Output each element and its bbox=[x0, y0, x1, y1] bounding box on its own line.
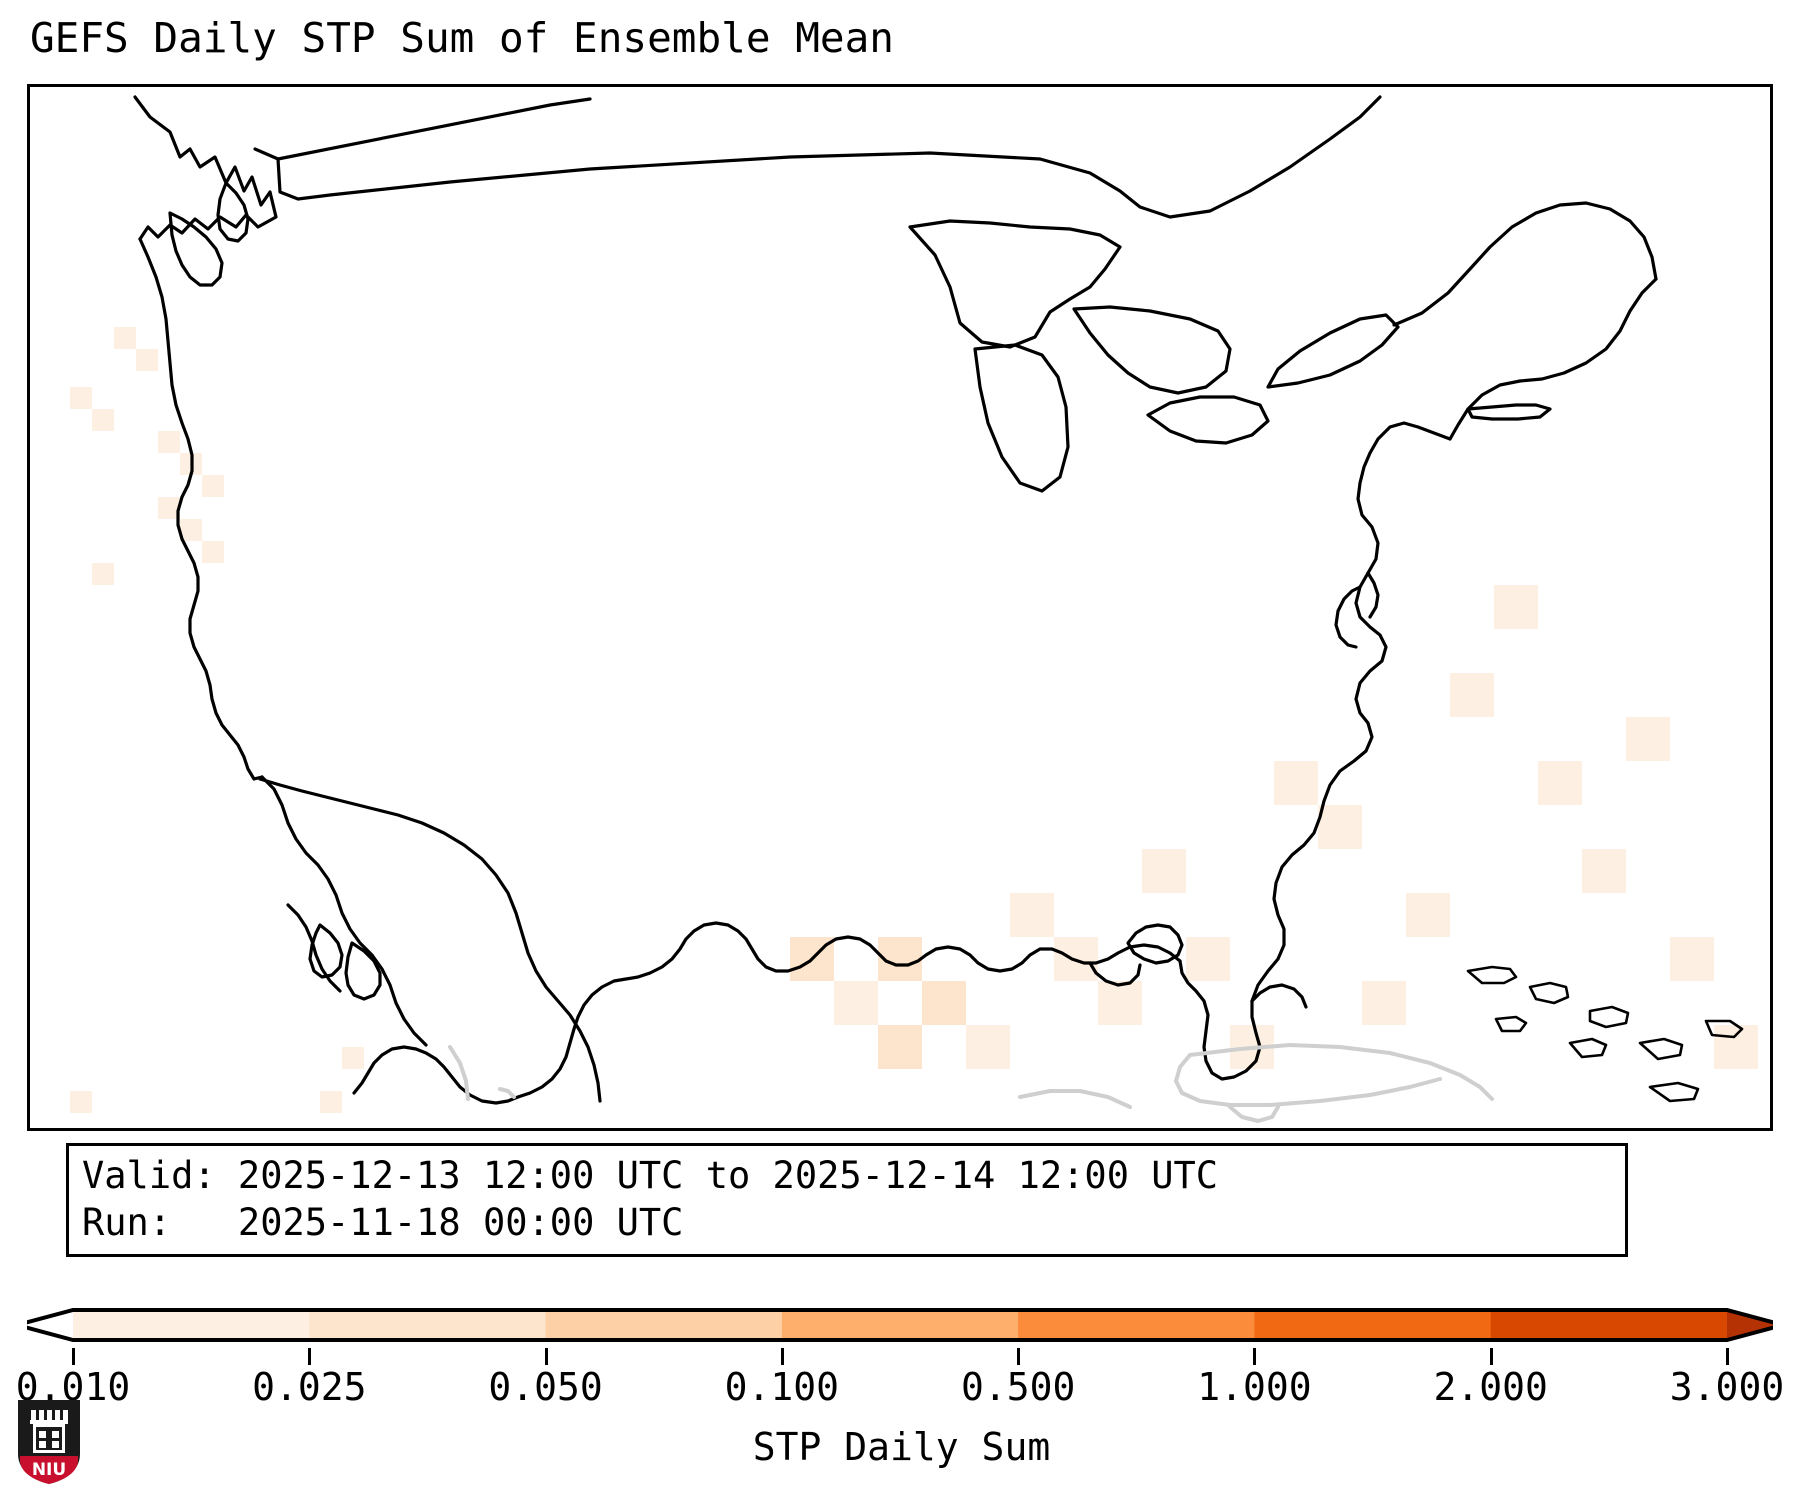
colorbar-tick-label: 1.000 bbox=[1197, 1368, 1311, 1406]
stp-cell bbox=[834, 981, 878, 1025]
stp-cell bbox=[1714, 1025, 1758, 1069]
stp-cell bbox=[1450, 673, 1494, 717]
stp-cell bbox=[136, 349, 158, 371]
colorbar-band bbox=[1254, 1310, 1491, 1340]
colorbar-tick-mark bbox=[1490, 1348, 1493, 1365]
stp-cell bbox=[320, 1091, 342, 1113]
colorbar-band bbox=[782, 1310, 1019, 1340]
stp-cell bbox=[342, 1047, 364, 1069]
colorbar-tick-label: 3.000 bbox=[1670, 1368, 1784, 1406]
stp-cell bbox=[180, 519, 202, 541]
stp-cell bbox=[1318, 805, 1362, 849]
stp-cell bbox=[92, 409, 114, 431]
colorbar-canvas bbox=[27, 1302, 1773, 1348]
colorbar-tick-label: 0.050 bbox=[488, 1368, 602, 1406]
stp-cell bbox=[1406, 893, 1450, 937]
colorbar-ticks: 0.0100.0250.0500.1000.5001.0002.0003.000 bbox=[0, 1348, 1803, 1418]
forecast-map-figure: GEFS Daily STP Sum of Ensemble Mean bbox=[0, 0, 1803, 1500]
niu-wordmark: NIU bbox=[32, 1460, 66, 1480]
colorbar-tick-label: 0.500 bbox=[961, 1368, 1075, 1406]
colorbar-bands bbox=[27, 1310, 1773, 1340]
stp-cell bbox=[878, 1025, 922, 1069]
colorbar-axis-label: STP Daily Sum bbox=[0, 1428, 1803, 1466]
colorbar-band bbox=[1018, 1310, 1255, 1340]
colorbar-tick-label: 0.025 bbox=[252, 1368, 366, 1406]
stp-cell bbox=[1494, 585, 1538, 629]
stp-cell bbox=[1010, 893, 1054, 937]
colorbar-band bbox=[309, 1310, 546, 1340]
colorbar-tick-mark bbox=[1017, 1348, 1020, 1365]
colorbar-band bbox=[1491, 1310, 1728, 1340]
stp-shaded-cells bbox=[70, 327, 1758, 1113]
valid-time-text: Valid: 2025-12-13 12:00 UTC to 2025-12-1… bbox=[82, 1157, 1218, 1194]
colorbar-band bbox=[73, 1310, 310, 1340]
stp-cell bbox=[1098, 981, 1142, 1025]
colorbar-tick-label: 0.100 bbox=[725, 1368, 839, 1406]
colorbar-band bbox=[546, 1310, 783, 1340]
stp-cell bbox=[1670, 937, 1714, 981]
stp-cell bbox=[158, 431, 180, 453]
stp-cell bbox=[1626, 717, 1670, 761]
stp-cell bbox=[1362, 981, 1406, 1025]
run-time-text: Run: 2025-11-18 00:00 UTC bbox=[82, 1204, 683, 1241]
stp-cell bbox=[1186, 937, 1230, 981]
stp-cell bbox=[1274, 761, 1318, 805]
colorbar-tick-mark bbox=[308, 1348, 311, 1365]
colorbar-tick-label: 2.000 bbox=[1434, 1368, 1548, 1406]
stp-cell bbox=[966, 1025, 1010, 1069]
stp-cell bbox=[202, 541, 224, 563]
stp-cell bbox=[70, 387, 92, 409]
stp-cell bbox=[70, 1091, 92, 1113]
stp-cell bbox=[1142, 849, 1186, 893]
page-title: GEFS Daily STP Sum of Ensemble Mean bbox=[30, 18, 894, 59]
colorbar-tick-mark bbox=[545, 1348, 548, 1365]
valid-run-info-box: Valid: 2025-12-13 12:00 UTC to 2025-12-1… bbox=[66, 1143, 1628, 1257]
colorbar-tick-mark bbox=[72, 1348, 75, 1365]
niu-logo: NIU bbox=[16, 1398, 82, 1486]
stp-cell bbox=[1582, 849, 1626, 893]
niu-shield-icon: NIU bbox=[16, 1398, 82, 1486]
colorbar-tick-mark bbox=[1253, 1348, 1256, 1365]
map-canvas bbox=[30, 87, 1770, 1128]
colorbar-tick-mark bbox=[781, 1348, 784, 1365]
map-panel bbox=[27, 84, 1773, 1131]
stp-cell bbox=[92, 563, 114, 585]
colorbar-tick-mark bbox=[1726, 1348, 1729, 1365]
stp-cell bbox=[114, 327, 136, 349]
stp-cell bbox=[922, 981, 966, 1025]
colorbar bbox=[27, 1302, 1773, 1348]
stp-cell bbox=[202, 475, 224, 497]
stp-cell bbox=[1538, 761, 1582, 805]
